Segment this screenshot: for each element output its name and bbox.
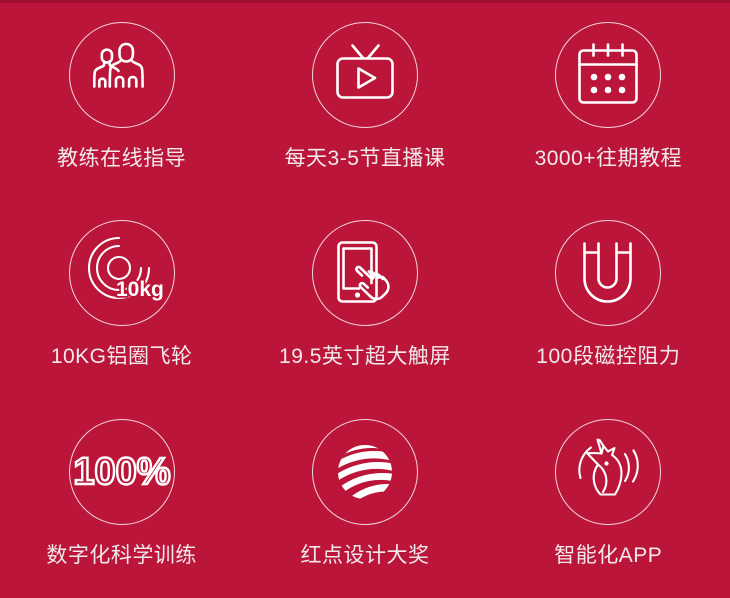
feature-caption: 每天3-5节直播课: [285, 148, 446, 169]
tv-play-icon: [312, 22, 418, 128]
feature-item-smart-app[interactable]: 智能化APP: [487, 400, 730, 598]
feature-item-resistance[interactable]: 100段磁控阻力: [487, 201, 730, 399]
feature-grid: 教练在线指导 每天3-5节直播课: [0, 3, 730, 598]
calendar-icon: [555, 22, 661, 128]
feature-caption: 100段磁控阻力: [536, 346, 680, 367]
feature-item-tutorials[interactable]: 3000+往期教程: [487, 3, 730, 201]
unicorn-head-icon: [555, 419, 661, 525]
feature-caption: 10KG铝圈飞轮: [51, 346, 193, 367]
two-people-icon: [69, 22, 175, 128]
feature-item-digital-training[interactable]: 100% 数字化科学训练: [0, 400, 243, 598]
feature-item-flywheel[interactable]: 10kg 10KG铝圈飞轮: [0, 201, 243, 399]
percent-label: 100%: [73, 451, 170, 493]
tablet-touch-icon: [312, 220, 418, 326]
feature-item-touchscreen[interactable]: 19.5英寸超大触屏: [243, 201, 486, 399]
feature-item-live-classes[interactable]: 每天3-5节直播课: [243, 3, 486, 201]
feature-caption: 数字化科学训练: [46, 545, 197, 566]
feature-caption: 3000+往期教程: [535, 148, 682, 169]
feature-caption: 智能化APP: [554, 545, 662, 566]
feature-caption: 教练在线指导: [57, 148, 186, 169]
flywheel-weight-label: 10kg: [116, 278, 164, 301]
magnet-icon: [555, 220, 661, 326]
flywheel-icon: 10kg: [69, 220, 175, 326]
feature-caption: 19.5英寸超大触屏: [279, 346, 451, 367]
feature-item-coach[interactable]: 教练在线指导: [0, 3, 243, 201]
feature-caption: 红点设计大奖: [300, 545, 429, 566]
percent-100-icon: 100%: [69, 419, 175, 525]
feature-item-red-dot-award[interactable]: 红点设计大奖: [243, 400, 486, 598]
striped-sphere-icon: [312, 419, 418, 525]
